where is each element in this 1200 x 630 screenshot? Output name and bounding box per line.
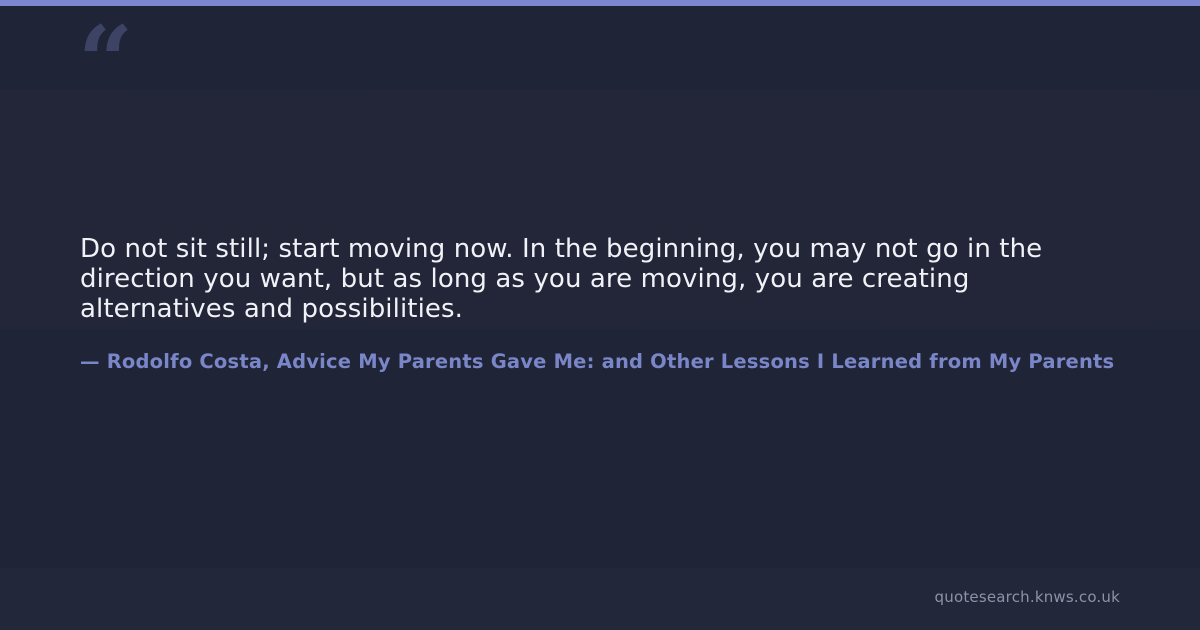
quote-body-text: Do not sit still; start moving now. In t…: [80, 234, 1090, 324]
site-watermark: quotesearch.knws.co.uk: [935, 588, 1120, 606]
open-quote-icon: “: [78, 14, 131, 110]
quote-attribution: — Rodolfo Costa, Advice My Parents Gave …: [80, 348, 1200, 376]
top-accent-bar: [0, 0, 1200, 6]
quote-card: “ Do not sit still; start moving now. In…: [0, 0, 1200, 630]
